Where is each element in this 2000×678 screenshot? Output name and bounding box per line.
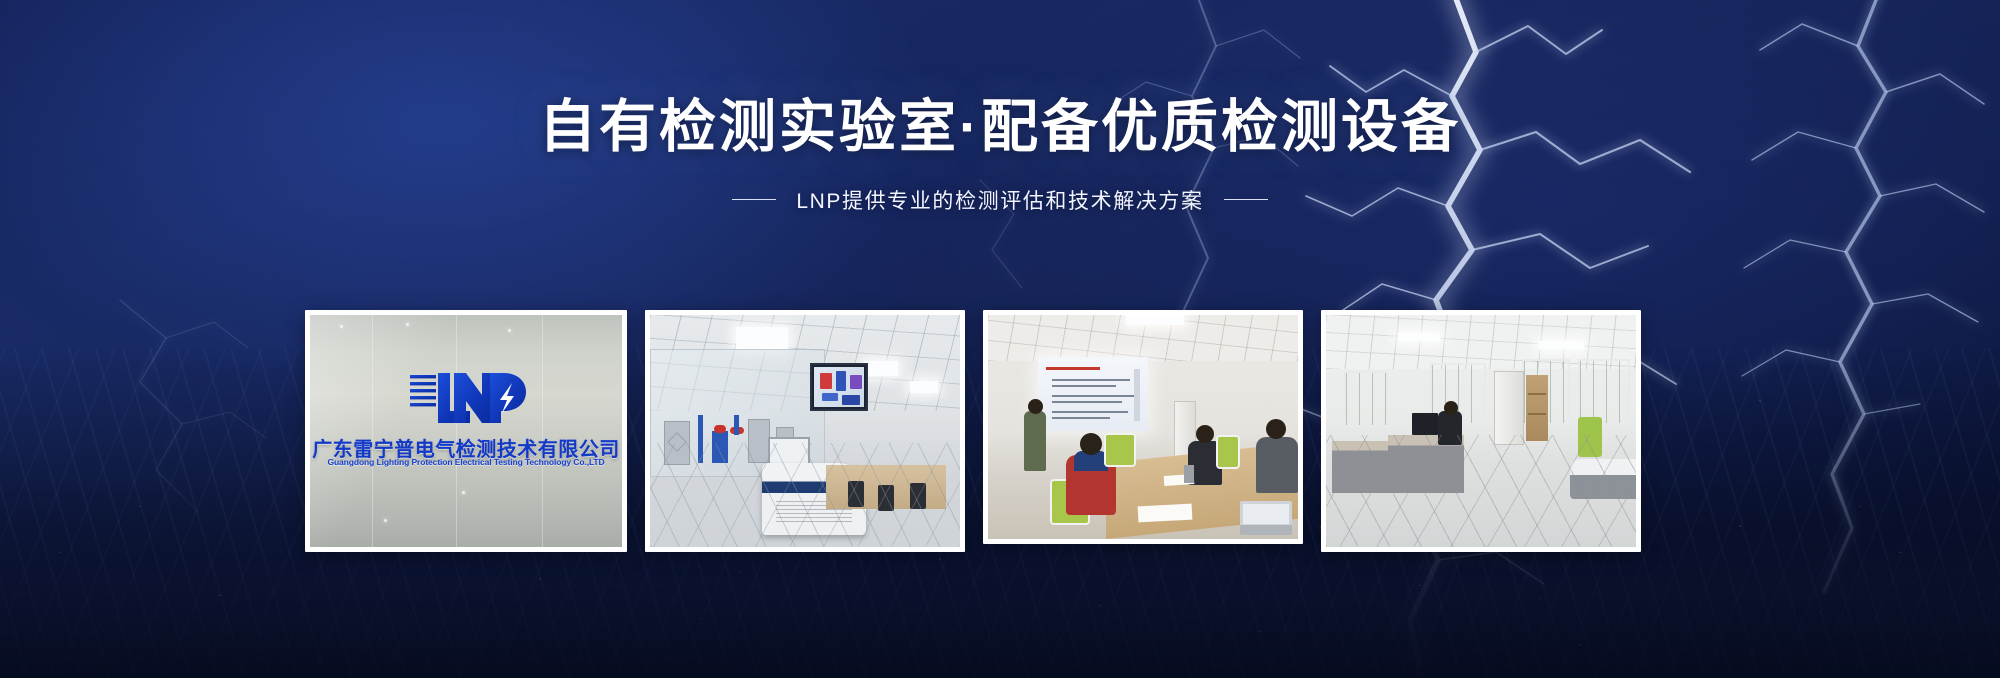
logo-wall-surface (310, 315, 622, 547)
person-presenter (1024, 411, 1046, 471)
page-subtitle: LNP提供专业的检测评估和技术解决方案 (796, 185, 1203, 215)
photo-image-hv-testing-laboratory (650, 315, 960, 547)
monitor-icon (1412, 413, 1438, 435)
window-left (1344, 371, 1388, 427)
lnp-logo-icon (408, 367, 528, 429)
company-name-en: Guangdong Lighting Protection Electrical… (310, 457, 622, 467)
window-right-b (1578, 359, 1630, 425)
page-title: 自有检测实验室·配备优质检测设备 (0, 96, 2000, 159)
projection-screen (1038, 357, 1148, 431)
rule-right-icon (1224, 199, 1268, 201)
gallery-photo-office-workspace[interactable] (1321, 310, 1641, 552)
gallery-photo-training-meeting-room[interactable] (983, 310, 1303, 544)
photo-image-training-meeting-room (988, 315, 1298, 539)
person-right-attendee (1256, 437, 1298, 493)
tall-cabinet (1494, 371, 1524, 445)
gallery-photo-hv-testing-laboratory[interactable] (645, 310, 965, 552)
photo-gallery: 广东雷宁普电气检测技术有限公司 Guangdong Lighting Prote… (305, 310, 1641, 552)
photo-image-office-workspace (1326, 315, 1636, 547)
laptop-icon (1240, 501, 1292, 535)
photo-image-company-logo-wall: 广东雷宁普电气检测技术有限公司 Guangdong Lighting Prote… (310, 315, 622, 547)
gallery-photo-company-logo-wall[interactable]: 广东雷宁普电气检测技术有限公司 Guangdong Lighting Prote… (305, 310, 627, 552)
wall-tv-icon (810, 363, 868, 411)
subtitle-row: LNP提供专业的检测评估和技术解决方案 (0, 185, 2000, 215)
hero-copy: 自有检测实验室·配备优质检测设备 LNP提供专业的检测评估和技术解决方案 (0, 96, 2000, 215)
hero-banner: 自有检测实验室·配备优质检测设备 LNP提供专业的检测评估和技术解决方案 (0, 0, 2000, 678)
rule-left-icon (732, 199, 776, 201)
